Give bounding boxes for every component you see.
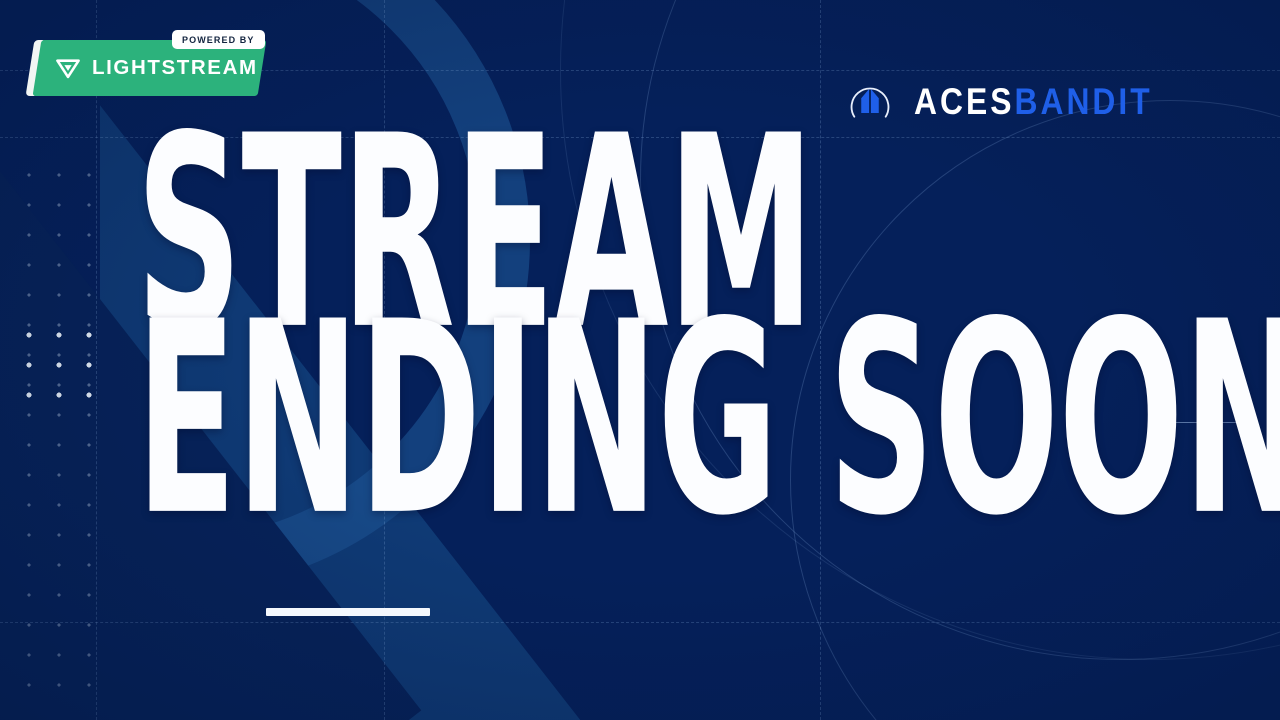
brand-logo: ACESBANDIT xyxy=(846,77,1192,125)
aces-bandit-emblem-icon xyxy=(846,77,894,125)
brand-wordmark: ACESBANDIT xyxy=(914,83,1153,120)
brand-name-primary: ACES xyxy=(914,81,1014,122)
ring-mask xyxy=(0,0,100,720)
headline-block: STREAM ENDING SOON xyxy=(136,128,1280,522)
brand-name-secondary: BANDIT xyxy=(1015,81,1153,122)
stream-ending-overlay: LIGHTSTREAM POWERED BY ACESBANDIT STREAM… xyxy=(0,0,1280,720)
headline-line-2: ENDING SOON xyxy=(136,314,1280,526)
dot-grid-highlight xyxy=(2,310,97,405)
grid-line-v-1 xyxy=(96,0,97,720)
lightstream-wordmark: LIGHTSTREAM xyxy=(92,56,258,80)
powered-by-tag: POWERED BY xyxy=(172,30,265,49)
lightstream-triangle-icon xyxy=(55,55,81,81)
grid-line-h-3 xyxy=(0,622,1280,623)
dot-grid-pattern xyxy=(2,150,112,690)
headline-accent-bar xyxy=(266,608,430,616)
